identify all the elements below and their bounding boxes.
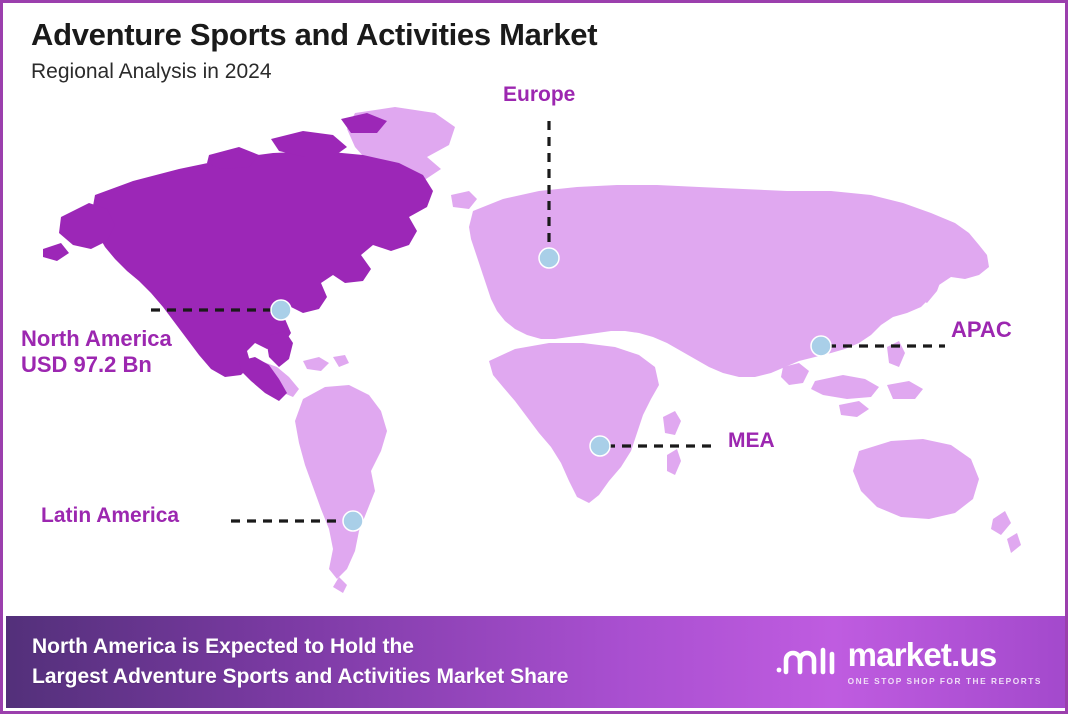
page-subtitle: Regional Analysis in 2024 <box>31 60 597 84</box>
logo-text-block: market.us ONE STOP SHOP FOR THE REPORTS <box>848 638 1042 686</box>
market-us-logo-icon <box>774 640 836 684</box>
region-label-latin-america: Latin America <box>41 504 179 529</box>
region-label-north-america: North America USD 97.2 Bn <box>21 326 172 378</box>
footer-banner: North America is Expected to Hold the La… <box>6 616 1068 708</box>
region-label-mea: MEA <box>728 429 775 454</box>
marker-dot-apac <box>811 336 831 356</box>
marker-dot-north-america <box>271 300 291 320</box>
page-title: Adventure Sports and Activities Market <box>31 17 597 53</box>
footer-line-1: North America is Expected to Hold the <box>32 632 568 662</box>
footer-line-2: Largest Adventure Sports and Activities … <box>32 662 568 692</box>
marker-dot-latin-america <box>343 511 363 531</box>
logo-tagline: ONE STOP SHOP FOR THE REPORTS <box>848 676 1042 686</box>
region-value-north-america: USD 97.2 Bn <box>21 352 172 378</box>
region-name-north-america: North America <box>21 326 172 352</box>
marker-dot-mea <box>590 436 610 456</box>
region-label-apac: APAC <box>951 317 1012 343</box>
world-map: North America USD 97.2 Bn Europe APAC ME… <box>3 99 1065 619</box>
logo-name: market.us <box>848 638 1042 671</box>
infographic-card: Adventure Sports and Activities Market R… <box>0 0 1068 714</box>
market-us-logo[interactable]: market.us ONE STOP SHOP FOR THE REPORTS <box>774 638 1042 686</box>
header: Adventure Sports and Activities Market R… <box>31 17 597 84</box>
footer-statement: North America is Expected to Hold the La… <box>32 632 568 693</box>
marker-dot-europe <box>539 248 559 268</box>
region-label-europe: Europe <box>503 83 575 108</box>
